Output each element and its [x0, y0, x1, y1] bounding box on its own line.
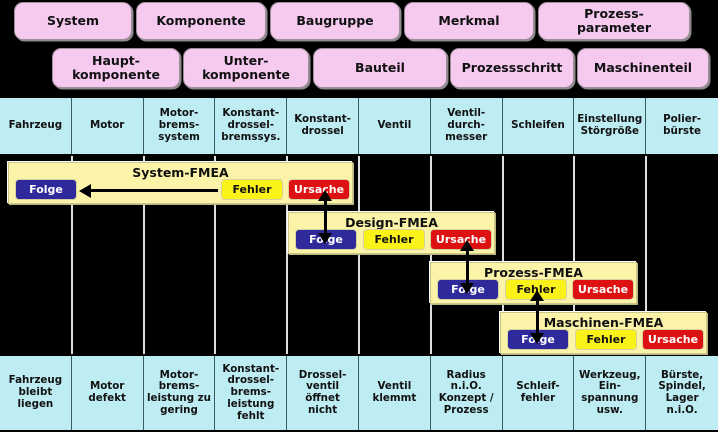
- sublevel-box-1[interactable]: Haupt-komponente: [52, 48, 180, 88]
- arrow-link-3: [536, 300, 539, 334]
- text-line: Fahrzeug: [9, 120, 62, 132]
- fmea-band-1[interactable]: System-FMEAFolgeFehlerUrsache: [8, 162, 353, 204]
- text-line: Störgröße: [581, 126, 639, 138]
- fmea-band-title: Maschinen-FMEA: [501, 315, 706, 330]
- header-cell-3: Motor-brems-system: [144, 98, 216, 154]
- text-line: leistung: [227, 399, 274, 411]
- text-line: drossel: [301, 126, 343, 138]
- text-line: fehlt: [237, 411, 264, 423]
- grid-failure-row: FahrzeugbleibtliegenMotordefektMotor-bre…: [0, 354, 718, 432]
- failure-cell-6: Ventilklemmt: [359, 356, 431, 430]
- failure-cell-8: Schleif-fehler: [503, 356, 575, 430]
- text-line: spannung: [581, 393, 638, 405]
- text-line: Bauteil: [355, 61, 405, 75]
- chip-fehler[interactable]: Fehler: [363, 229, 425, 250]
- grid-column-divider: [430, 156, 432, 354]
- grid-middle-band: System-FMEAFolgeFehlerUrsacheDesign-FMEA…: [0, 156, 718, 354]
- chip-ursache[interactable]: Ursache: [572, 279, 634, 300]
- level-box-4[interactable]: Merkmal: [404, 2, 534, 40]
- text-line: Motor: [90, 120, 124, 132]
- fmea-band-title: Design-FMEA: [289, 215, 494, 230]
- text-line: liegen: [18, 399, 54, 411]
- arrow-link-2: [466, 250, 469, 284]
- text-line: nicht: [308, 405, 337, 417]
- header-cell-7: Ventil-durch-messer: [431, 98, 503, 154]
- failure-cell-2: Motordefekt: [72, 356, 144, 430]
- grid-header-row: FahrzeugMotorMotor-brems-systemKonstant-…: [0, 96, 718, 156]
- header-cell-4: Konstant-drossel-bremssys.: [215, 98, 287, 154]
- text-line: gering: [160, 405, 198, 417]
- failure-cell-1: Fahrzeugbleibtliegen: [0, 356, 72, 430]
- text-line: komponente: [72, 68, 160, 82]
- level-box-5[interactable]: Prozess-parameter: [538, 2, 690, 40]
- text-line: parameter: [577, 21, 651, 35]
- text-line: Prozess: [444, 405, 489, 417]
- text-line: System: [47, 14, 99, 28]
- text-line: bremssys.: [221, 132, 280, 144]
- text-line: öffnet: [305, 393, 340, 405]
- level-box-3[interactable]: Baugruppe: [270, 2, 400, 40]
- failure-cell-3: Motor-brems-leistung zugering: [144, 356, 216, 430]
- sublevel-box-5[interactable]: Maschinenteil: [577, 48, 709, 88]
- failure-cell-10: Bürste,Spindel,Lagern.i.O.: [646, 356, 718, 430]
- arrow-fehler-to-folge: [90, 189, 218, 192]
- failure-cell-4: Konstant-drossel-brems-leistungfehlt: [215, 356, 287, 430]
- sublevel-box-3[interactable]: Bauteil: [313, 48, 447, 88]
- text-line: leistung zu: [147, 393, 211, 405]
- sublevel-box-2[interactable]: Unter-komponente: [183, 48, 309, 88]
- text-line: Prozess-: [584, 7, 644, 21]
- diagram-canvas: SystemKomponenteBaugruppeMerkmalProzess-…: [0, 0, 718, 432]
- header-cell-8: Schleifen: [503, 98, 575, 154]
- chip-folge[interactable]: Folge: [15, 179, 77, 200]
- text-line: n.i.O.: [667, 405, 698, 417]
- text-line: Schleifen: [511, 120, 565, 132]
- header-cell-5: Konstant-drossel: [287, 98, 359, 154]
- level-box-2[interactable]: Komponente: [136, 2, 266, 40]
- chip-fehler[interactable]: Fehler: [221, 179, 283, 200]
- header-cell-9: EinstellungStörgröße: [574, 98, 646, 154]
- header-cell-1: Fahrzeug: [0, 98, 72, 154]
- failure-cell-7: Radiusn.i.O.Konzept /Prozess: [431, 356, 503, 430]
- level-box-1[interactable]: System: [14, 2, 132, 40]
- arrow-link-1: [324, 200, 327, 234]
- text-line: Komponente: [156, 14, 245, 28]
- text-line: Haupt-: [92, 54, 140, 68]
- sublevel-box-4[interactable]: Prozessschritt: [450, 48, 574, 88]
- text-line: Baugruppe: [296, 14, 373, 28]
- text-line: fehler: [521, 393, 555, 405]
- text-line: usw.: [597, 405, 623, 417]
- text-line: Konzept /: [439, 393, 494, 405]
- header-cell-6: Ventil: [359, 98, 431, 154]
- text-line: bürste: [663, 126, 701, 138]
- text-line: komponente: [202, 68, 290, 82]
- text-line: messer: [445, 132, 487, 144]
- text-line: klemmt: [373, 393, 417, 405]
- text-line: Unter-: [224, 54, 269, 68]
- text-line: Maschinenteil: [594, 61, 692, 75]
- header-cell-2: Motor: [72, 98, 144, 154]
- header-cell-10: Polier-bürste: [646, 98, 718, 154]
- chip-ursache[interactable]: Ursache: [642, 329, 704, 350]
- text-line: system: [158, 132, 200, 144]
- chip-fehler[interactable]: Fehler: [575, 329, 637, 350]
- fmea-band-title: Prozess-FMEA: [431, 265, 636, 280]
- failure-cell-5: Drossel-ventilöffnetnicht: [287, 356, 359, 430]
- text-line: Prozessschritt: [462, 61, 563, 75]
- text-line: Merkmal: [438, 14, 499, 28]
- fmea-band-title: System-FMEA: [9, 165, 352, 180]
- fmea-structure-grid: FahrzeugMotorMotor-brems-systemKonstant-…: [0, 96, 718, 432]
- grid-column-divider: [358, 156, 360, 354]
- failure-cell-9: Werkzeug,Ein-spannungusw.: [574, 356, 646, 430]
- text-line: Lager: [666, 393, 699, 405]
- text-line: defekt: [88, 393, 126, 405]
- text-line: Ventil: [378, 120, 412, 132]
